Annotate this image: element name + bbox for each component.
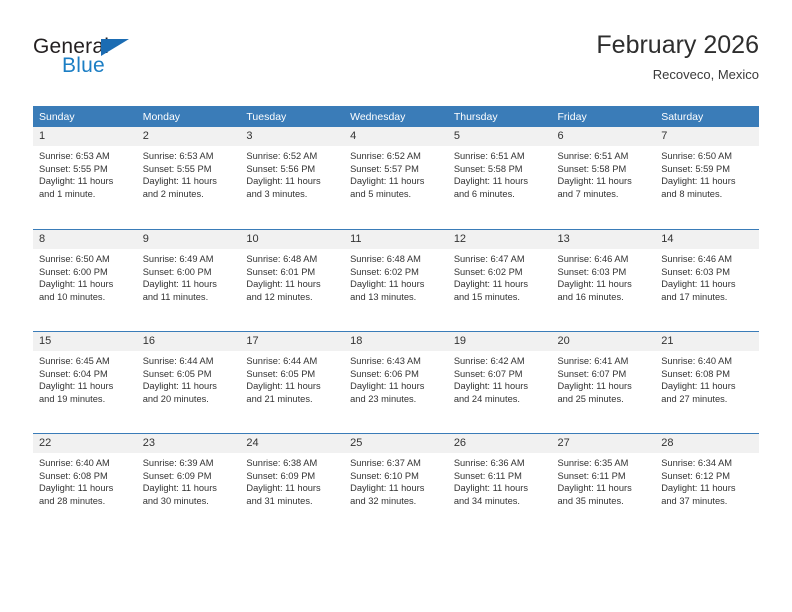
sunrise-text: Sunrise: 6:34 AM	[661, 457, 753, 470]
calendar-day-cell[interactable]: 13Sunrise: 6:46 AMSunset: 6:03 PMDayligh…	[552, 229, 656, 331]
calendar-day-cell[interactable]: 11Sunrise: 6:48 AMSunset: 6:02 PMDayligh…	[344, 229, 448, 331]
daylight-text: Daylight: 11 hours and 15 minutes.	[454, 278, 546, 303]
sunset-text: Sunset: 6:00 PM	[143, 266, 235, 279]
day-number: 2	[137, 127, 241, 146]
day-number: 4	[344, 127, 448, 146]
sunrise-text: Sunrise: 6:48 AM	[246, 253, 338, 266]
calendar-day-cell[interactable]: 16Sunrise: 6:44 AMSunset: 6:05 PMDayligh…	[137, 331, 241, 433]
day-details: Sunrise: 6:40 AMSunset: 6:08 PMDaylight:…	[33, 453, 137, 507]
weekday-header-thursday: Thursday	[448, 106, 552, 127]
day-details: Sunrise: 6:49 AMSunset: 6:00 PMDaylight:…	[137, 249, 241, 303]
calendar-day-cell[interactable]: 1Sunrise: 6:53 AMSunset: 5:55 PMDaylight…	[33, 127, 137, 229]
calendar-day-cell[interactable]: 26Sunrise: 6:36 AMSunset: 6:11 PMDayligh…	[448, 433, 552, 535]
day-cell-inner: 1Sunrise: 6:53 AMSunset: 5:55 PMDaylight…	[33, 127, 137, 229]
day-cell-inner: 18Sunrise: 6:43 AMSunset: 6:06 PMDayligh…	[344, 331, 448, 433]
sunrise-text: Sunrise: 6:38 AM	[246, 457, 338, 470]
sunset-text: Sunset: 6:05 PM	[246, 368, 338, 381]
sunrise-text: Sunrise: 6:43 AM	[350, 355, 442, 368]
day-details: Sunrise: 6:37 AMSunset: 6:10 PMDaylight:…	[344, 453, 448, 507]
day-cell-inner: 10Sunrise: 6:48 AMSunset: 6:01 PMDayligh…	[240, 229, 344, 331]
day-details: Sunrise: 6:47 AMSunset: 6:02 PMDaylight:…	[448, 249, 552, 303]
calendar-table: SundayMondayTuesdayWednesdayThursdayFrid…	[33, 106, 759, 535]
page-subtitle: Recoveco, Mexico	[596, 66, 759, 84]
calendar-day-cell[interactable]: 20Sunrise: 6:41 AMSunset: 6:07 PMDayligh…	[552, 331, 656, 433]
calendar-day-cell[interactable]: 7Sunrise: 6:50 AMSunset: 5:59 PMDaylight…	[655, 127, 759, 229]
daylight-text: Daylight: 11 hours and 3 minutes.	[246, 175, 338, 200]
sunrise-text: Sunrise: 6:36 AM	[454, 457, 546, 470]
day-details: Sunrise: 6:52 AMSunset: 5:56 PMDaylight:…	[240, 146, 344, 200]
daylight-text: Daylight: 11 hours and 25 minutes.	[558, 380, 650, 405]
day-cell-inner: 25Sunrise: 6:37 AMSunset: 6:10 PMDayligh…	[344, 433, 448, 535]
calendar-day-cell[interactable]: 19Sunrise: 6:42 AMSunset: 6:07 PMDayligh…	[448, 331, 552, 433]
calendar-page: General Blue February 2026 Recoveco, Mex…	[0, 0, 792, 612]
day-number: 16	[137, 332, 241, 351]
daylight-text: Daylight: 11 hours and 30 minutes.	[143, 482, 235, 507]
daylight-text: Daylight: 11 hours and 8 minutes.	[661, 175, 753, 200]
day-number: 17	[240, 332, 344, 351]
sunrise-text: Sunrise: 6:35 AM	[558, 457, 650, 470]
day-details: Sunrise: 6:38 AMSunset: 6:09 PMDaylight:…	[240, 453, 344, 507]
calendar-day-cell[interactable]: 12Sunrise: 6:47 AMSunset: 6:02 PMDayligh…	[448, 229, 552, 331]
sunset-text: Sunset: 6:11 PM	[454, 470, 546, 483]
sunset-text: Sunset: 6:03 PM	[558, 266, 650, 279]
day-details: Sunrise: 6:51 AMSunset: 5:58 PMDaylight:…	[448, 146, 552, 200]
daylight-text: Daylight: 11 hours and 16 minutes.	[558, 278, 650, 303]
daylight-text: Daylight: 11 hours and 13 minutes.	[350, 278, 442, 303]
sunrise-text: Sunrise: 6:47 AM	[454, 253, 546, 266]
calendar-day-cell[interactable]: 23Sunrise: 6:39 AMSunset: 6:09 PMDayligh…	[137, 433, 241, 535]
daylight-text: Daylight: 11 hours and 7 minutes.	[558, 175, 650, 200]
calendar-day-cell[interactable]: 27Sunrise: 6:35 AMSunset: 6:11 PMDayligh…	[552, 433, 656, 535]
sunset-text: Sunset: 6:09 PM	[143, 470, 235, 483]
day-cell-inner: 20Sunrise: 6:41 AMSunset: 6:07 PMDayligh…	[552, 331, 656, 433]
sunset-text: Sunset: 5:59 PM	[661, 163, 753, 176]
day-cell-inner: 2Sunrise: 6:53 AMSunset: 5:55 PMDaylight…	[137, 127, 241, 229]
calendar-header-row: SundayMondayTuesdayWednesdayThursdayFrid…	[33, 106, 759, 127]
day-number: 24	[240, 434, 344, 453]
day-cell-inner: 8Sunrise: 6:50 AMSunset: 6:00 PMDaylight…	[33, 229, 137, 331]
brand-logo[interactable]: General Blue	[33, 35, 263, 95]
day-details: Sunrise: 6:34 AMSunset: 6:12 PMDaylight:…	[655, 453, 759, 507]
calendar-day-cell[interactable]: 10Sunrise: 6:48 AMSunset: 6:01 PMDayligh…	[240, 229, 344, 331]
day-cell-inner: 11Sunrise: 6:48 AMSunset: 6:02 PMDayligh…	[344, 229, 448, 331]
sunset-text: Sunset: 6:08 PM	[39, 470, 131, 483]
sunrise-text: Sunrise: 6:40 AM	[661, 355, 753, 368]
calendar-week-row: 8Sunrise: 6:50 AMSunset: 6:00 PMDaylight…	[33, 229, 759, 331]
calendar-body: 1Sunrise: 6:53 AMSunset: 5:55 PMDaylight…	[33, 127, 759, 535]
calendar-day-cell[interactable]: 3Sunrise: 6:52 AMSunset: 5:56 PMDaylight…	[240, 127, 344, 229]
weekday-header-tuesday: Tuesday	[240, 106, 344, 127]
sunset-text: Sunset: 6:11 PM	[558, 470, 650, 483]
calendar-day-cell[interactable]: 14Sunrise: 6:46 AMSunset: 6:03 PMDayligh…	[655, 229, 759, 331]
daylight-text: Daylight: 11 hours and 1 minute.	[39, 175, 131, 200]
calendar-day-cell[interactable]: 2Sunrise: 6:53 AMSunset: 5:55 PMDaylight…	[137, 127, 241, 229]
daylight-text: Daylight: 11 hours and 21 minutes.	[246, 380, 338, 405]
day-cell-inner: 19Sunrise: 6:42 AMSunset: 6:07 PMDayligh…	[448, 331, 552, 433]
weekday-header-sunday: Sunday	[33, 106, 137, 127]
day-number: 25	[344, 434, 448, 453]
sunset-text: Sunset: 6:03 PM	[661, 266, 753, 279]
calendar-day-cell[interactable]: 17Sunrise: 6:44 AMSunset: 6:05 PMDayligh…	[240, 331, 344, 433]
page-header: General Blue February 2026 Recoveco, Mex…	[33, 30, 759, 98]
day-cell-inner: 4Sunrise: 6:52 AMSunset: 5:57 PMDaylight…	[344, 127, 448, 229]
day-cell-inner: 14Sunrise: 6:46 AMSunset: 6:03 PMDayligh…	[655, 229, 759, 331]
day-number: 14	[655, 230, 759, 249]
day-details: Sunrise: 6:36 AMSunset: 6:11 PMDaylight:…	[448, 453, 552, 507]
sunset-text: Sunset: 6:01 PM	[246, 266, 338, 279]
daylight-text: Daylight: 11 hours and 35 minutes.	[558, 482, 650, 507]
sunset-text: Sunset: 6:06 PM	[350, 368, 442, 381]
day-cell-inner: 6Sunrise: 6:51 AMSunset: 5:58 PMDaylight…	[552, 127, 656, 229]
calendar-day-cell[interactable]: 5Sunrise: 6:51 AMSunset: 5:58 PMDaylight…	[448, 127, 552, 229]
sunrise-text: Sunrise: 6:40 AM	[39, 457, 131, 470]
day-details: Sunrise: 6:50 AMSunset: 5:59 PMDaylight:…	[655, 146, 759, 200]
sunset-text: Sunset: 6:00 PM	[39, 266, 131, 279]
day-details: Sunrise: 6:39 AMSunset: 6:09 PMDaylight:…	[137, 453, 241, 507]
sunset-text: Sunset: 5:55 PM	[39, 163, 131, 176]
day-number: 5	[448, 127, 552, 146]
sunrise-text: Sunrise: 6:44 AM	[246, 355, 338, 368]
day-number: 7	[655, 127, 759, 146]
sunset-text: Sunset: 6:12 PM	[661, 470, 753, 483]
day-number: 26	[448, 434, 552, 453]
sunrise-text: Sunrise: 6:52 AM	[350, 150, 442, 163]
daylight-text: Daylight: 11 hours and 19 minutes.	[39, 380, 131, 405]
day-cell-inner: 16Sunrise: 6:44 AMSunset: 6:05 PMDayligh…	[137, 331, 241, 433]
sunset-text: Sunset: 6:04 PM	[39, 368, 131, 381]
calendar-day-cell[interactable]: 9Sunrise: 6:49 AMSunset: 6:00 PMDaylight…	[137, 229, 241, 331]
sunrise-text: Sunrise: 6:53 AM	[143, 150, 235, 163]
daylight-text: Daylight: 11 hours and 17 minutes.	[661, 278, 753, 303]
sunrise-text: Sunrise: 6:39 AM	[143, 457, 235, 470]
day-number: 21	[655, 332, 759, 351]
day-cell-inner: 21Sunrise: 6:40 AMSunset: 6:08 PMDayligh…	[655, 331, 759, 433]
calendar-week-row: 15Sunrise: 6:45 AMSunset: 6:04 PMDayligh…	[33, 331, 759, 433]
weekday-header-saturday: Saturday	[655, 106, 759, 127]
calendar-week-row: 1Sunrise: 6:53 AMSunset: 5:55 PMDaylight…	[33, 127, 759, 229]
day-number: 8	[33, 230, 137, 249]
sunrise-text: Sunrise: 6:46 AM	[558, 253, 650, 266]
day-number: 18	[344, 332, 448, 351]
title-block: February 2026 Recoveco, Mexico	[596, 30, 759, 84]
sunset-text: Sunset: 5:55 PM	[143, 163, 235, 176]
calendar-week-row: 22Sunrise: 6:40 AMSunset: 6:08 PMDayligh…	[33, 433, 759, 535]
day-number: 13	[552, 230, 656, 249]
day-number: 22	[33, 434, 137, 453]
day-cell-inner: 26Sunrise: 6:36 AMSunset: 6:11 PMDayligh…	[448, 433, 552, 535]
day-cell-inner: 15Sunrise: 6:45 AMSunset: 6:04 PMDayligh…	[33, 331, 137, 433]
calendar-day-cell[interactable]: 22Sunrise: 6:40 AMSunset: 6:08 PMDayligh…	[33, 433, 137, 535]
calendar-day-cell[interactable]: 18Sunrise: 6:43 AMSunset: 6:06 PMDayligh…	[344, 331, 448, 433]
day-number: 15	[33, 332, 137, 351]
day-number: 20	[552, 332, 656, 351]
sunset-text: Sunset: 6:07 PM	[558, 368, 650, 381]
sunrise-text: Sunrise: 6:42 AM	[454, 355, 546, 368]
day-cell-inner: 7Sunrise: 6:50 AMSunset: 5:59 PMDaylight…	[655, 127, 759, 229]
day-number: 12	[448, 230, 552, 249]
daylight-text: Daylight: 11 hours and 24 minutes.	[454, 380, 546, 405]
sunset-text: Sunset: 6:08 PM	[661, 368, 753, 381]
day-number: 6	[552, 127, 656, 146]
sunrise-text: Sunrise: 6:51 AM	[558, 150, 650, 163]
sunrise-text: Sunrise: 6:51 AM	[454, 150, 546, 163]
sunrise-text: Sunrise: 6:45 AM	[39, 355, 131, 368]
calendar-day-cell[interactable]: 15Sunrise: 6:45 AMSunset: 6:04 PMDayligh…	[33, 331, 137, 433]
brand-name-blue: Blue	[62, 54, 105, 78]
page-title: February 2026	[596, 30, 759, 60]
sunrise-text: Sunrise: 6:48 AM	[350, 253, 442, 266]
sunset-text: Sunset: 5:58 PM	[558, 163, 650, 176]
daylight-text: Daylight: 11 hours and 23 minutes.	[350, 380, 442, 405]
day-cell-inner: 12Sunrise: 6:47 AMSunset: 6:02 PMDayligh…	[448, 229, 552, 331]
day-details: Sunrise: 6:46 AMSunset: 6:03 PMDaylight:…	[655, 249, 759, 303]
day-number: 19	[448, 332, 552, 351]
weekday-header-wednesday: Wednesday	[344, 106, 448, 127]
day-details: Sunrise: 6:52 AMSunset: 5:57 PMDaylight:…	[344, 146, 448, 200]
day-details: Sunrise: 6:50 AMSunset: 6:00 PMDaylight:…	[33, 249, 137, 303]
daylight-text: Daylight: 11 hours and 12 minutes.	[246, 278, 338, 303]
calendar-day-cell[interactable]: 21Sunrise: 6:40 AMSunset: 6:08 PMDayligh…	[655, 331, 759, 433]
day-number: 9	[137, 230, 241, 249]
daylight-text: Daylight: 11 hours and 28 minutes.	[39, 482, 131, 507]
sunrise-text: Sunrise: 6:41 AM	[558, 355, 650, 368]
day-cell-inner: 24Sunrise: 6:38 AMSunset: 6:09 PMDayligh…	[240, 433, 344, 535]
daylight-text: Daylight: 11 hours and 27 minutes.	[661, 380, 753, 405]
calendar-day-cell[interactable]: 4Sunrise: 6:52 AMSunset: 5:57 PMDaylight…	[344, 127, 448, 229]
day-cell-inner: 22Sunrise: 6:40 AMSunset: 6:08 PMDayligh…	[33, 433, 137, 535]
day-number: 27	[552, 434, 656, 453]
day-details: Sunrise: 6:44 AMSunset: 6:05 PMDaylight:…	[137, 351, 241, 405]
day-cell-inner: 13Sunrise: 6:46 AMSunset: 6:03 PMDayligh…	[552, 229, 656, 331]
day-details: Sunrise: 6:42 AMSunset: 6:07 PMDaylight:…	[448, 351, 552, 405]
sunrise-text: Sunrise: 6:53 AM	[39, 150, 131, 163]
daylight-text: Daylight: 11 hours and 5 minutes.	[350, 175, 442, 200]
day-cell-inner: 17Sunrise: 6:44 AMSunset: 6:05 PMDayligh…	[240, 331, 344, 433]
day-number: 3	[240, 127, 344, 146]
day-number: 1	[33, 127, 137, 146]
day-details: Sunrise: 6:46 AMSunset: 6:03 PMDaylight:…	[552, 249, 656, 303]
weekday-header-monday: Monday	[137, 106, 241, 127]
day-cell-inner: 28Sunrise: 6:34 AMSunset: 6:12 PMDayligh…	[655, 433, 759, 535]
daylight-text: Daylight: 11 hours and 10 minutes.	[39, 278, 131, 303]
weekday-header-friday: Friday	[552, 106, 656, 127]
sunset-text: Sunset: 5:56 PM	[246, 163, 338, 176]
day-details: Sunrise: 6:41 AMSunset: 6:07 PMDaylight:…	[552, 351, 656, 405]
day-number: 11	[344, 230, 448, 249]
daylight-text: Daylight: 11 hours and 20 minutes.	[143, 380, 235, 405]
day-details: Sunrise: 6:35 AMSunset: 6:11 PMDaylight:…	[552, 453, 656, 507]
day-details: Sunrise: 6:40 AMSunset: 6:08 PMDaylight:…	[655, 351, 759, 405]
sunset-text: Sunset: 5:58 PM	[454, 163, 546, 176]
sunset-text: Sunset: 6:09 PM	[246, 470, 338, 483]
day-cell-inner: 23Sunrise: 6:39 AMSunset: 6:09 PMDayligh…	[137, 433, 241, 535]
day-cell-inner: 3Sunrise: 6:52 AMSunset: 5:56 PMDaylight…	[240, 127, 344, 229]
day-details: Sunrise: 6:53 AMSunset: 5:55 PMDaylight:…	[33, 146, 137, 200]
sunrise-text: Sunrise: 6:50 AM	[661, 150, 753, 163]
calendar-day-cell[interactable]: 8Sunrise: 6:50 AMSunset: 6:00 PMDaylight…	[33, 229, 137, 331]
sunrise-text: Sunrise: 6:50 AM	[39, 253, 131, 266]
sunrise-text: Sunrise: 6:37 AM	[350, 457, 442, 470]
sunset-text: Sunset: 5:57 PM	[350, 163, 442, 176]
day-cell-inner: 5Sunrise: 6:51 AMSunset: 5:58 PMDaylight…	[448, 127, 552, 229]
daylight-text: Daylight: 11 hours and 11 minutes.	[143, 278, 235, 303]
day-number: 28	[655, 434, 759, 453]
calendar-day-cell[interactable]: 6Sunrise: 6:51 AMSunset: 5:58 PMDaylight…	[552, 127, 656, 229]
day-details: Sunrise: 6:45 AMSunset: 6:04 PMDaylight:…	[33, 351, 137, 405]
sunset-text: Sunset: 6:07 PM	[454, 368, 546, 381]
day-details: Sunrise: 6:53 AMSunset: 5:55 PMDaylight:…	[137, 146, 241, 200]
day-details: Sunrise: 6:51 AMSunset: 5:58 PMDaylight:…	[552, 146, 656, 200]
sunset-text: Sunset: 6:02 PM	[454, 266, 546, 279]
daylight-text: Daylight: 11 hours and 37 minutes.	[661, 482, 753, 507]
calendar-day-cell[interactable]: 28Sunrise: 6:34 AMSunset: 6:12 PMDayligh…	[655, 433, 759, 535]
daylight-text: Daylight: 11 hours and 34 minutes.	[454, 482, 546, 507]
sunrise-text: Sunrise: 6:52 AM	[246, 150, 338, 163]
day-number: 10	[240, 230, 344, 249]
day-details: Sunrise: 6:44 AMSunset: 6:05 PMDaylight:…	[240, 351, 344, 405]
day-details: Sunrise: 6:43 AMSunset: 6:06 PMDaylight:…	[344, 351, 448, 405]
sunrise-text: Sunrise: 6:49 AM	[143, 253, 235, 266]
calendar-day-cell[interactable]: 25Sunrise: 6:37 AMSunset: 6:10 PMDayligh…	[344, 433, 448, 535]
day-details: Sunrise: 6:48 AMSunset: 6:01 PMDaylight:…	[240, 249, 344, 303]
daylight-text: Daylight: 11 hours and 2 minutes.	[143, 175, 235, 200]
day-number: 23	[137, 434, 241, 453]
sunset-text: Sunset: 6:05 PM	[143, 368, 235, 381]
day-cell-inner: 9Sunrise: 6:49 AMSunset: 6:00 PMDaylight…	[137, 229, 241, 331]
calendar-day-cell[interactable]: 24Sunrise: 6:38 AMSunset: 6:09 PMDayligh…	[240, 433, 344, 535]
sunset-text: Sunset: 6:02 PM	[350, 266, 442, 279]
day-details: Sunrise: 6:48 AMSunset: 6:02 PMDaylight:…	[344, 249, 448, 303]
sunset-text: Sunset: 6:10 PM	[350, 470, 442, 483]
triangle-icon	[101, 39, 129, 56]
daylight-text: Daylight: 11 hours and 31 minutes.	[246, 482, 338, 507]
day-cell-inner: 27Sunrise: 6:35 AMSunset: 6:11 PMDayligh…	[552, 433, 656, 535]
daylight-text: Daylight: 11 hours and 6 minutes.	[454, 175, 546, 200]
sunrise-text: Sunrise: 6:46 AM	[661, 253, 753, 266]
sunrise-text: Sunrise: 6:44 AM	[143, 355, 235, 368]
daylight-text: Daylight: 11 hours and 32 minutes.	[350, 482, 442, 507]
